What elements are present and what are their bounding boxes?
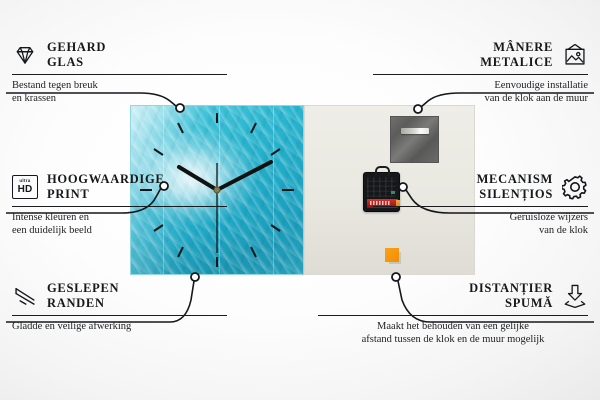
callout-description: Gladde en veilige afwerking	[12, 320, 227, 334]
callout-manere-metalice: MÂNERE METALICE Eenvoudige installatie v…	[373, 40, 588, 106]
diamond-icon	[12, 42, 38, 68]
callout-description: Maakt het behouden van een gelijke afsta…	[318, 320, 588, 348]
callout-gehard-glas: GEHARD GLAS Bestand tegen breuk en krass…	[12, 40, 227, 106]
callout-description: Bestand tegen breuk en krassen	[12, 79, 227, 107]
gear-icon	[562, 174, 588, 200]
callout-title: GEHARD GLAS	[47, 40, 106, 70]
callout-rule	[373, 74, 588, 75]
callout-rule	[12, 74, 227, 75]
picture-frame-hanger-icon	[562, 42, 588, 68]
callout-hoogwaardige-print: ultra HD HOOGWAARDIGE PRINT Intense kleu…	[12, 172, 227, 238]
callout-rule	[318, 315, 588, 316]
callout-distantier-spuma: DISTANȚIER SPUMĂ Maakt het behouden van …	[318, 281, 588, 347]
infographic-canvas: GEHARD GLAS Bestand tegen breuk en krass…	[0, 0, 600, 400]
callout-rule	[12, 315, 227, 316]
ultra-hd-large-text: HD	[18, 185, 33, 195]
callout-description: Geruisloze wijzers van de klok	[373, 211, 588, 239]
callout-title: GESLEPEN RANDEN	[47, 281, 119, 311]
ultra-hd-small-text: ultra	[19, 179, 30, 184]
callout-description: Intense kleuren en een duidelijk beeld	[12, 211, 227, 239]
callout-title: DISTANȚIER SPUMĂ	[469, 281, 553, 311]
callout-title: MECANISM SILENȚIOS	[477, 172, 553, 202]
ultra-hd-icon: ultra HD	[12, 175, 38, 199]
callout-title: MÂNERE METALICE	[480, 40, 553, 70]
callout-rule	[12, 206, 227, 207]
callout-description: Eenvoudige installatie van de klok aan d…	[373, 79, 588, 107]
callout-mecanism-silentios: MECANISM SILENȚIOS Geruisloze wijzers va…	[373, 172, 588, 238]
down-arrow-layer-icon	[562, 283, 588, 309]
callout-geslepen-randen: GESLEPEN RANDEN Gladde en veilige afwerk…	[12, 281, 227, 333]
bevelled-edges-icon	[12, 283, 38, 309]
callout-rule	[373, 206, 588, 207]
callout-title: HOOGWAARDIGE PRINT	[47, 172, 164, 202]
